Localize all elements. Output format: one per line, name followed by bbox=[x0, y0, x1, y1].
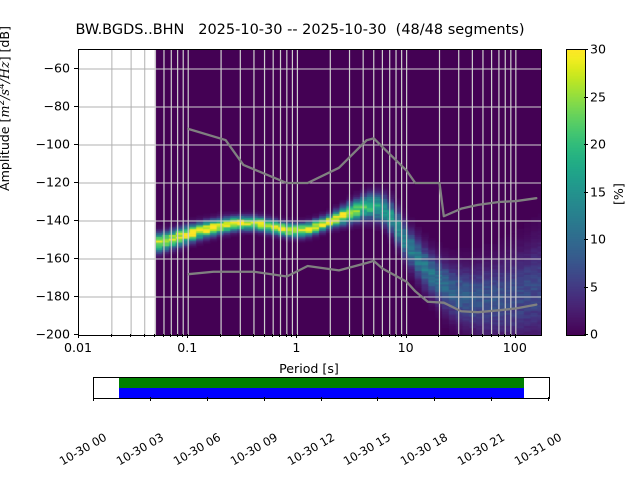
x-tick-label: 0.01 bbox=[38, 340, 118, 355]
timeline-tick bbox=[377, 397, 378, 401]
x-tick-minor bbox=[111, 334, 112, 337]
noise-model-nhnm bbox=[188, 129, 536, 216]
noise-model-nlnm bbox=[188, 261, 536, 312]
timeline-tick-label: 10-30 00 bbox=[57, 430, 109, 468]
x-tick-minor bbox=[510, 334, 511, 337]
timeline-tick bbox=[93, 397, 94, 401]
y-tick-label: −80 bbox=[8, 99, 70, 114]
timeline-tick-label: 10-30 21 bbox=[455, 430, 507, 468]
x-tick-minor bbox=[286, 334, 287, 337]
y-tick-label: −60 bbox=[8, 61, 70, 76]
page-title: BW.BGDS..BHN 2025-10-30 -- 2025-10-30 (4… bbox=[0, 22, 600, 38]
y-tick bbox=[74, 68, 78, 69]
x-tick-minor bbox=[279, 334, 280, 337]
x-tick-minor bbox=[177, 334, 178, 337]
x-tick-major bbox=[296, 334, 297, 338]
y-tick bbox=[74, 296, 78, 297]
data-coverage-green bbox=[119, 378, 524, 388]
x-tick-minor bbox=[220, 334, 221, 337]
colorbar-tick-label: 5 bbox=[590, 279, 598, 294]
timeline-tick-label: 10-31 00 bbox=[512, 430, 564, 468]
colorbar-tick bbox=[584, 334, 588, 335]
x-tick-minor bbox=[144, 334, 145, 337]
x-tick-minor bbox=[130, 334, 131, 337]
x-tick-minor bbox=[438, 334, 439, 337]
x-tick-label: 0.1 bbox=[147, 340, 227, 355]
timeline-tick bbox=[207, 397, 208, 401]
x-tick-minor bbox=[458, 334, 459, 337]
x-tick-major bbox=[78, 334, 79, 338]
x-tick-major bbox=[187, 334, 188, 338]
x-tick-minor bbox=[329, 334, 330, 337]
x-tick-major bbox=[406, 334, 407, 338]
colorbar-tick bbox=[584, 287, 588, 288]
colorbar-tick bbox=[584, 192, 588, 193]
colorbar-tick bbox=[584, 144, 588, 145]
y-tick-label: −180 bbox=[8, 289, 70, 304]
colorbar-tick-label: 10 bbox=[590, 232, 606, 247]
colorbar-tick-label: 25 bbox=[590, 89, 606, 104]
x-axis-label: Period [s] bbox=[78, 361, 540, 376]
y-tick-label: −120 bbox=[8, 175, 70, 190]
x-tick-minor bbox=[154, 334, 155, 337]
y-tick bbox=[74, 258, 78, 259]
x-tick-minor bbox=[362, 334, 363, 337]
noise-model-curves bbox=[79, 50, 541, 335]
x-tick-label: 1 bbox=[256, 340, 336, 355]
colorbar-tick bbox=[584, 49, 588, 50]
x-tick-minor bbox=[504, 334, 505, 337]
x-tick-minor bbox=[498, 334, 499, 337]
colorbar bbox=[566, 49, 586, 336]
timeline-tick-label: 10-30 03 bbox=[114, 430, 166, 468]
y-tick bbox=[74, 144, 78, 145]
colorbar-tick-label: 20 bbox=[590, 137, 606, 152]
x-tick-minor bbox=[373, 334, 374, 337]
y-tick-label: −140 bbox=[8, 213, 70, 228]
y-tick bbox=[74, 182, 78, 183]
x-tick-minor bbox=[491, 334, 492, 337]
x-tick-minor bbox=[401, 334, 402, 337]
y-tick-label: −160 bbox=[8, 251, 70, 266]
ppsd-figure: BW.BGDS..BHN 2025-10-30 -- 2025-10-30 (4… bbox=[0, 0, 640, 480]
timeline-tick bbox=[150, 397, 151, 401]
x-tick-minor bbox=[381, 334, 382, 337]
x-tick-minor bbox=[471, 334, 472, 337]
x-tick-minor bbox=[163, 334, 164, 337]
y-tick bbox=[74, 220, 78, 221]
x-tick-minor bbox=[253, 334, 254, 337]
y-tick bbox=[74, 106, 78, 107]
colorbar-label: [%] bbox=[611, 183, 626, 205]
x-tick-minor bbox=[182, 334, 183, 337]
x-tick-minor bbox=[170, 334, 171, 337]
ppsd-plot-area bbox=[79, 50, 541, 335]
timeline-tick-label: 10-30 09 bbox=[227, 430, 279, 468]
timeline-tick-label: 10-30 06 bbox=[171, 430, 223, 468]
timeline-coverage-area bbox=[94, 378, 549, 398]
x-tick-minor bbox=[272, 334, 273, 337]
x-tick-minor bbox=[349, 334, 350, 337]
timeline-tick-label: 10-30 18 bbox=[398, 430, 450, 468]
x-tick-minor bbox=[291, 334, 292, 337]
timeline-tick bbox=[264, 397, 265, 401]
colorbar-tick bbox=[584, 239, 588, 240]
colorbar-tick-label: 0 bbox=[590, 327, 598, 342]
x-tick-label: 10 bbox=[366, 340, 446, 355]
timeline-tick-label: 10-30 12 bbox=[284, 430, 336, 468]
ppsd-main-axes bbox=[78, 49, 542, 336]
y-tick-label: −100 bbox=[8, 137, 70, 152]
x-tick-minor bbox=[482, 334, 483, 337]
timeline-tick bbox=[321, 397, 322, 401]
timeline-tick bbox=[491, 397, 492, 401]
x-tick-minor bbox=[389, 334, 390, 337]
x-tick-major bbox=[515, 334, 516, 338]
x-tick-minor bbox=[239, 334, 240, 337]
x-tick-minor bbox=[264, 334, 265, 337]
timeline-tick bbox=[434, 397, 435, 401]
x-tick-label: 100 bbox=[475, 340, 555, 355]
colorbar-tick-label: 30 bbox=[590, 42, 606, 57]
x-tick-minor bbox=[395, 334, 396, 337]
colorbar-tick bbox=[584, 97, 588, 98]
colorbar-gradient bbox=[567, 50, 585, 335]
timeline-tick-label: 10-30 15 bbox=[341, 430, 393, 468]
timeline-axes bbox=[93, 377, 550, 399]
colorbar-tick-label: 15 bbox=[590, 184, 606, 199]
timeline-tick bbox=[548, 397, 549, 401]
